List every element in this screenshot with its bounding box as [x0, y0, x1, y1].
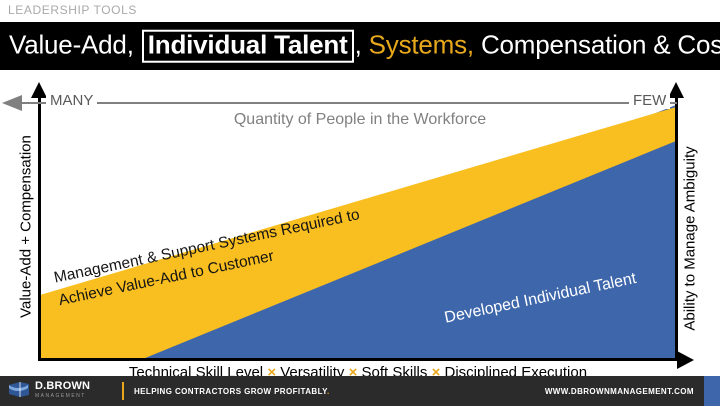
left-axis-title: Value-Add + Compensation: [18, 117, 35, 337]
brand-name: D.BROWN: [35, 381, 90, 392]
right-axis-line: [675, 96, 678, 360]
left-axis-line: [38, 96, 41, 360]
top-axis-label-few: FEW: [629, 92, 670, 109]
eyebrow-bar: LEADERSHIP TOOLS: [0, 0, 720, 22]
plot-area: [40, 105, 676, 358]
footer-divider: [122, 382, 124, 400]
brand-subtitle: MANAGEMENT: [35, 394, 90, 399]
eyebrow-label: LEADERSHIP TOOLS: [8, 3, 137, 17]
top-axis-arrow-left-icon: [2, 95, 22, 111]
footer-accent-block: [704, 376, 720, 406]
top-axis-label-many: MANY: [46, 92, 97, 109]
page-title: Value-Add, Individual Talent, Systems, C…: [9, 30, 720, 63]
bottom-axis-arrow-right-icon: [677, 351, 694, 369]
title-segment-systems: Systems,: [369, 30, 474, 60]
right-axis-arrow-up-icon: [668, 82, 684, 98]
title-comma: ,: [355, 30, 369, 60]
right-axis-title: Ability to Manage Ambiguity: [682, 129, 699, 349]
slide-root: LEADERSHIP TOOLS Value-Add, Individual T…: [0, 0, 720, 406]
title-segment-value-add: Value-Add,: [9, 30, 141, 60]
footer-bar: D.BROWN MANAGEMENT HELPING CONTRACTORS G…: [0, 376, 720, 406]
footer-tagline-dot: .: [327, 387, 330, 396]
brand-logo: D.BROWN MANAGEMENT: [8, 381, 90, 399]
title-segment-compensation: Compensation & Cost: [474, 30, 720, 60]
footer-tagline-text: HELPING CONTRACTORS GROW PROFITABLY: [134, 387, 327, 396]
footer-tagline: HELPING CONTRACTORS GROW PROFITABLY.: [134, 387, 330, 396]
diagram-canvas: Management & Support Systems Required to…: [0, 70, 720, 376]
bottom-axis-line: [38, 358, 677, 361]
chart-title: Quantity of People in the Workforce: [0, 111, 720, 129]
top-axis-rule: [22, 102, 677, 104]
brand-wordmark: D.BROWN MANAGEMENT: [35, 381, 90, 399]
band-shapes: [40, 105, 676, 358]
left-axis-arrow-up-icon: [31, 82, 47, 98]
title-bar: Value-Add, Individual Talent, Systems, C…: [0, 22, 720, 70]
book-swoosh-icon: [8, 381, 30, 399]
footer-website-url: WWW.DBROWNMANAGEMENT.COM: [545, 387, 694, 396]
title-highlight-individual-talent: Individual Talent: [142, 30, 354, 63]
